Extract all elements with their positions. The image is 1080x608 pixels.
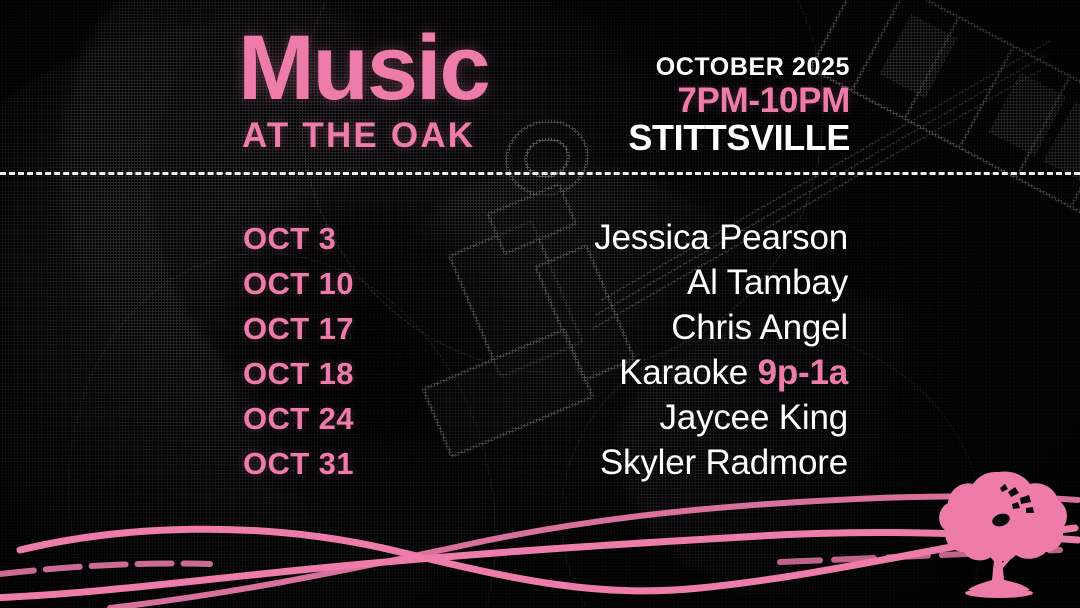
lineup-act-name: Al Tambay [687, 263, 848, 302]
lineup-act-time: 9p-1a [758, 353, 848, 392]
lineup-date: OCT 18 [0, 356, 370, 392]
lineup-row: OCT 10Al Tambay [0, 263, 1080, 308]
poster-title: Music [238, 26, 489, 112]
lineup-date: OCT 3 [0, 221, 370, 257]
lineup-list: OCT 3Jessica PearsonOCT 10Al TambayOCT 1… [0, 218, 1080, 488]
lineup-act: Karaoke 9p-1a [370, 353, 1080, 393]
lineup-row: OCT 24Jaycee King [0, 398, 1080, 443]
lineup-row: OCT 18Karaoke 9p-1a [0, 353, 1080, 398]
lineup-act-name: Karaoke [619, 353, 748, 392]
dashed-divider [0, 172, 1080, 175]
lineup-act-name: Jessica Pearson [594, 218, 848, 257]
event-info-block: OCTOBER 2025 7PM-10PM STITTSVILLE [510, 54, 850, 157]
event-month: OCTOBER 2025 [510, 54, 850, 80]
oak-tree-icon [924, 462, 1074, 602]
lineup-act: Al Tambay [370, 263, 1080, 303]
lineup-date: OCT 10 [0, 266, 370, 302]
poster-subtitle: AT THE OAK [242, 118, 489, 153]
masthead: Music AT THE OAK [238, 26, 489, 153]
lineup-act: Chris Angel [370, 308, 1080, 348]
event-time: 7PM-10PM [510, 82, 850, 120]
pink-string-waves [0, 478, 1080, 608]
lineup-act-name: Jaycee King [660, 398, 848, 437]
lineup-date: OCT 31 [0, 446, 370, 482]
lineup-row: OCT 3Jessica Pearson [0, 218, 1080, 263]
event-location: STITTSVILLE [510, 119, 850, 157]
lineup-act: Jaycee King [370, 398, 1080, 438]
wave-line-4 [0, 563, 210, 574]
event-poster: Music AT THE OAK OCTOBER 2025 7PM-10PM S… [0, 0, 1080, 608]
lineup-act-name: Skyler Radmore [600, 443, 848, 482]
lineup-date: OCT 24 [0, 401, 370, 437]
lineup-act: Jessica Pearson [370, 218, 1080, 258]
lineup-act-name: Chris Angel [671, 308, 848, 347]
lineup-row: OCT 17Chris Angel [0, 308, 1080, 353]
lineup-date: OCT 17 [0, 311, 370, 347]
